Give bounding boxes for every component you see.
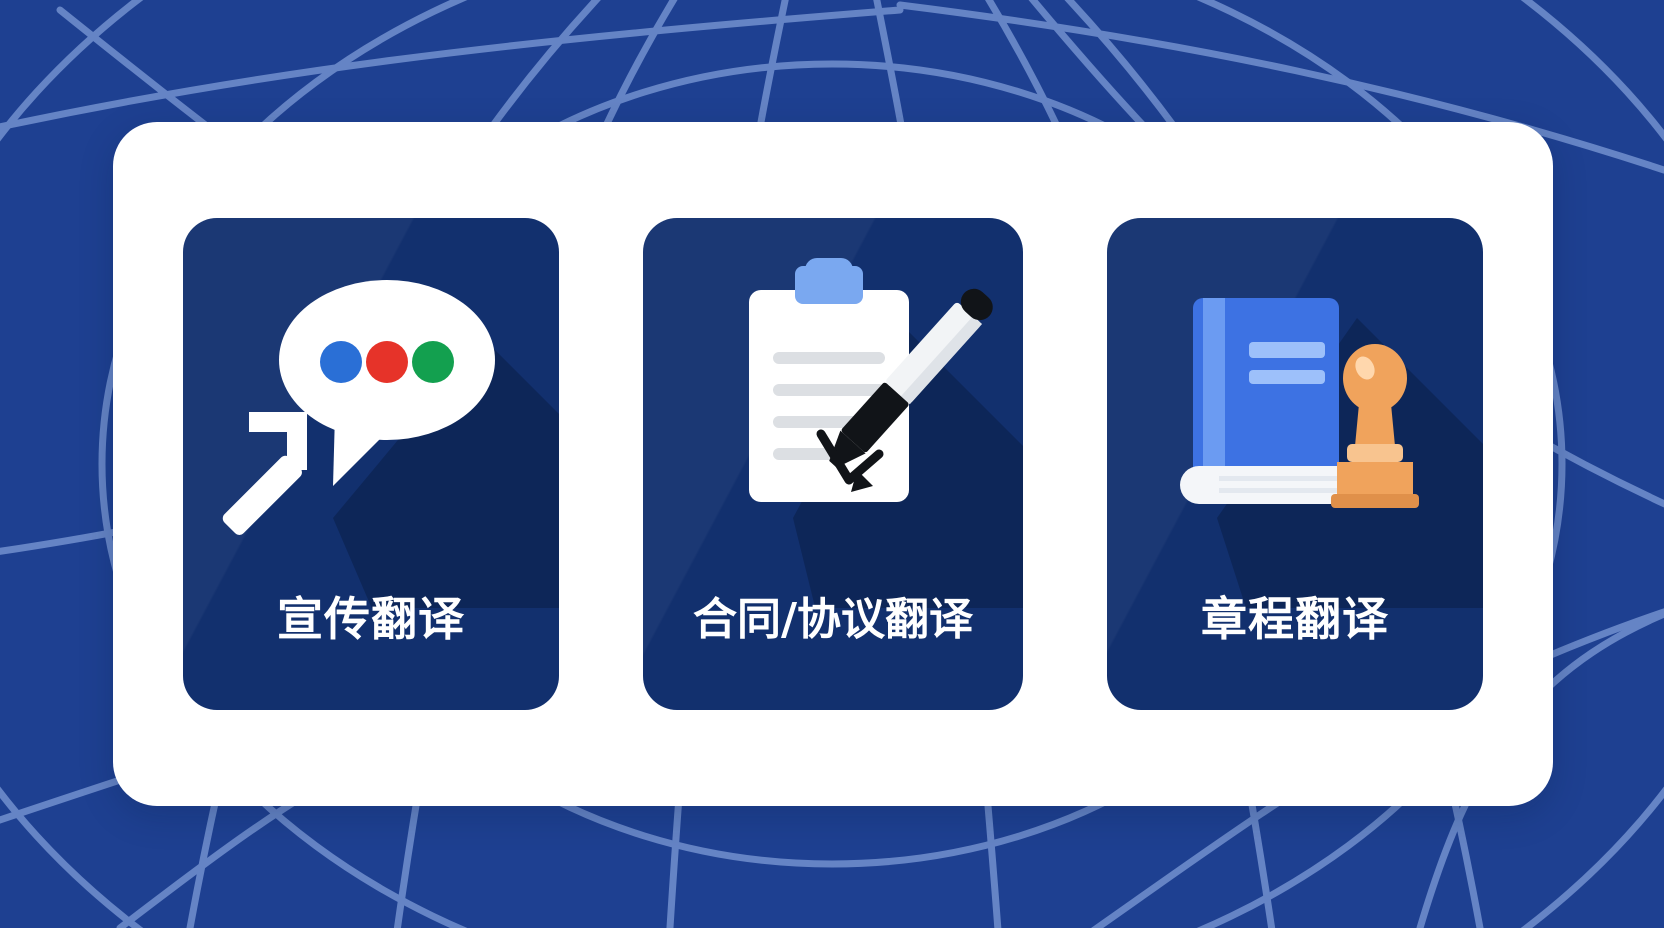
speech-bubble-arrow-icon [183, 218, 559, 608]
card-contract-agreement-translation[interactable]: 合同/协议翻译 [643, 218, 1023, 710]
clipboard-pen-icon [643, 218, 1023, 608]
poster-stage: 宣传翻译 [0, 0, 1664, 928]
service-panel: 宣传翻译 [113, 122, 1553, 806]
book-stamp-icon [1107, 218, 1483, 608]
card-label: 章程翻译 [1107, 596, 1483, 642]
card-promo-translation[interactable]: 宣传翻译 [183, 218, 559, 710]
card-articles-translation[interactable]: 章程翻译 [1107, 218, 1483, 710]
card-label: 合同/协议翻译 [643, 598, 1023, 642]
card-label: 宣传翻译 [183, 596, 559, 642]
service-card-row: 宣传翻译 [183, 218, 1483, 710]
